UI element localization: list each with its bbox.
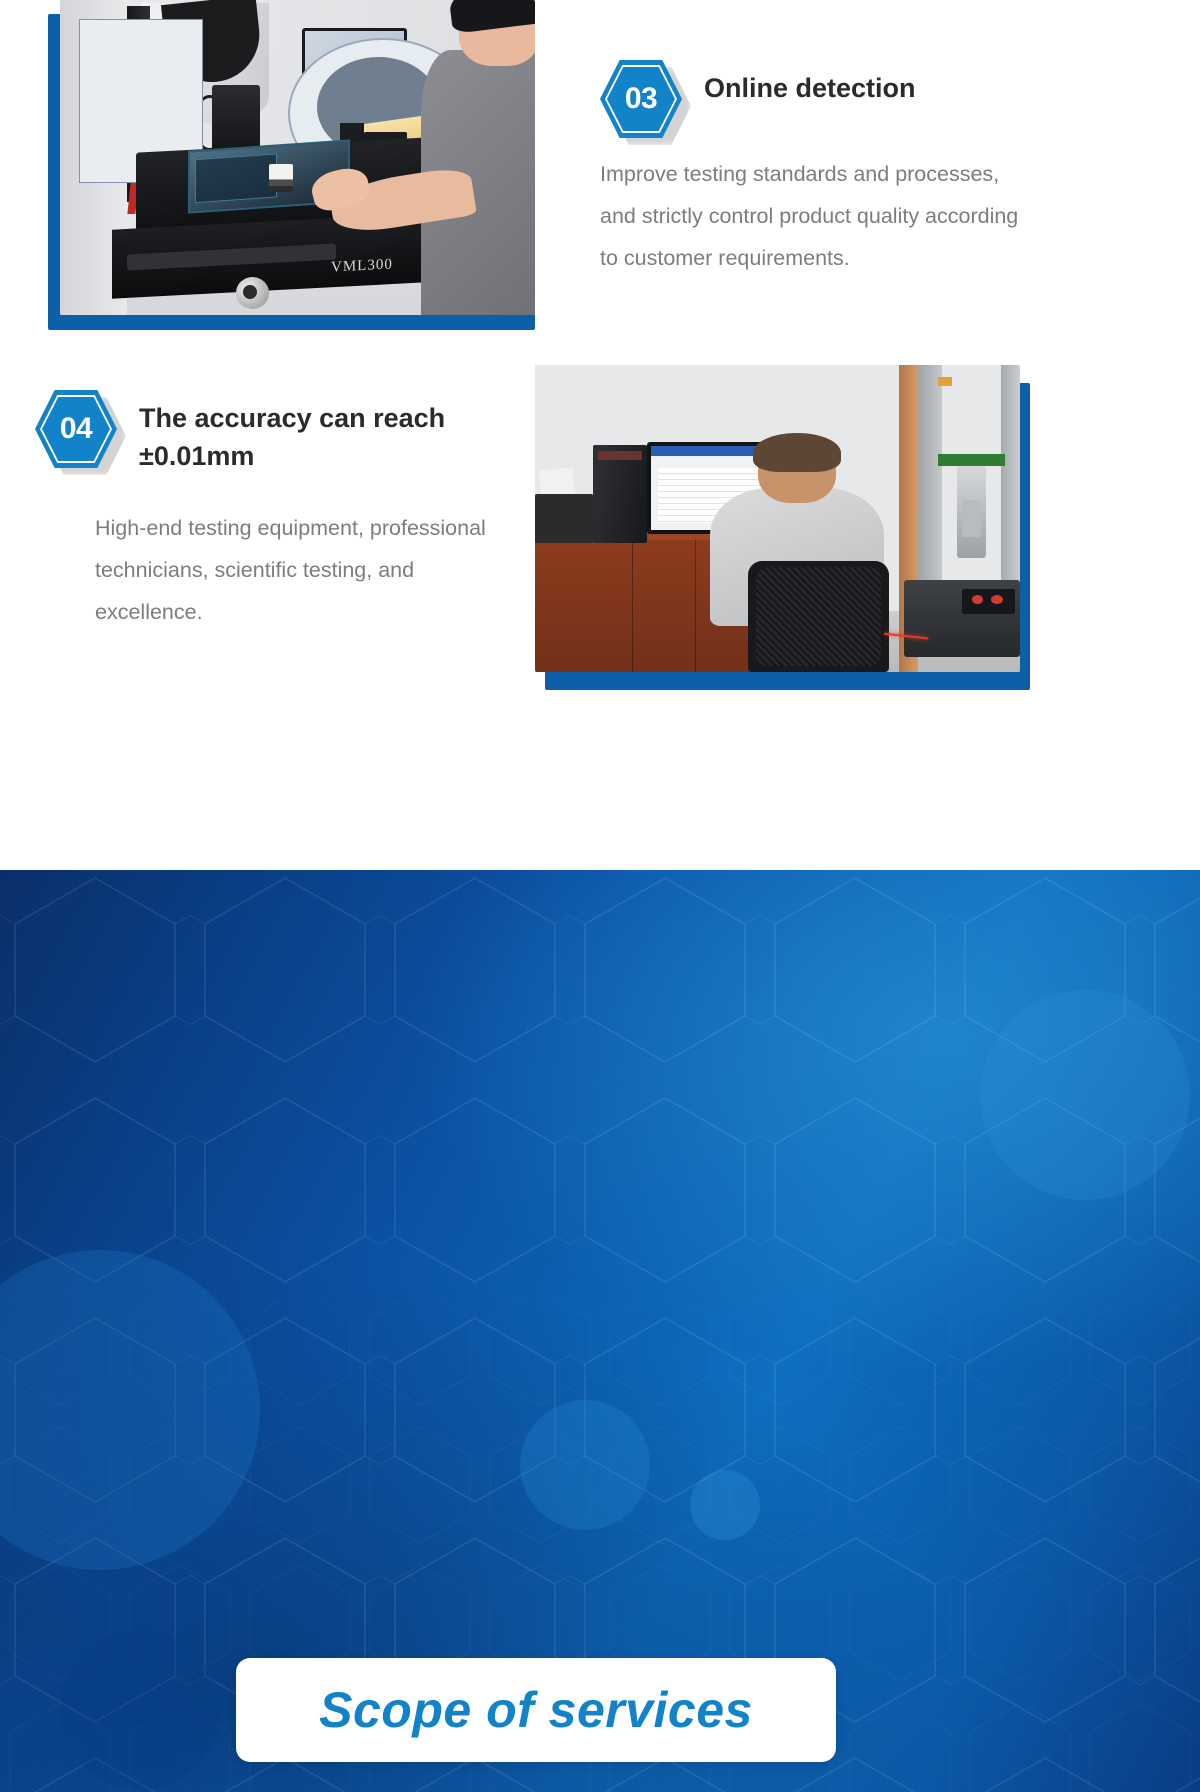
section-heading: Scope of services (319, 1681, 753, 1739)
feature-heading-row: 03 Online detection (600, 60, 1020, 138)
badge-number: 03 (600, 60, 682, 138)
background-blob (690, 1470, 760, 1540)
background-blob (520, 1400, 650, 1530)
photo-vision-measuring-machine: VML300 (60, 0, 535, 315)
feature-title: Online detection (704, 60, 916, 107)
feature-heading-row: 04 The accuracy can reach ±0.01mm (35, 390, 515, 476)
accuracy-photo-wrapper (535, 365, 1040, 690)
scope-title-card: Scope of services (236, 1658, 836, 1762)
hexagon-badge-icon: 04 (35, 390, 117, 468)
feature-title: The accuracy can reach ±0.01mm (139, 390, 515, 476)
feature-block-online-detection: 03 Online detection Improve testing stan… (600, 60, 1020, 280)
background-blob (980, 990, 1190, 1200)
badge-number: 04 (35, 390, 117, 468)
machine-model-label: VML300 (331, 257, 393, 277)
feature-body-text: Improve testing standards and processes,… (600, 154, 1020, 280)
background-blob (60, 1630, 220, 1790)
feature-body-text: High-end testing equipment, professional… (35, 508, 515, 634)
feature-block-accuracy: 04 The accuracy can reach ±0.01mm High-e… (35, 390, 515, 633)
scope-of-services-section: Scope of services 01 CNC processing of e… (0, 870, 1200, 1792)
hexagon-badge-icon: 03 (600, 60, 682, 138)
photo-tensile-testing-lab (535, 365, 1020, 672)
online-detection-photo-wrapper: VML300 (30, 0, 535, 330)
top-features-section: VML300 03 Online detection Improve testi… (0, 0, 1200, 870)
